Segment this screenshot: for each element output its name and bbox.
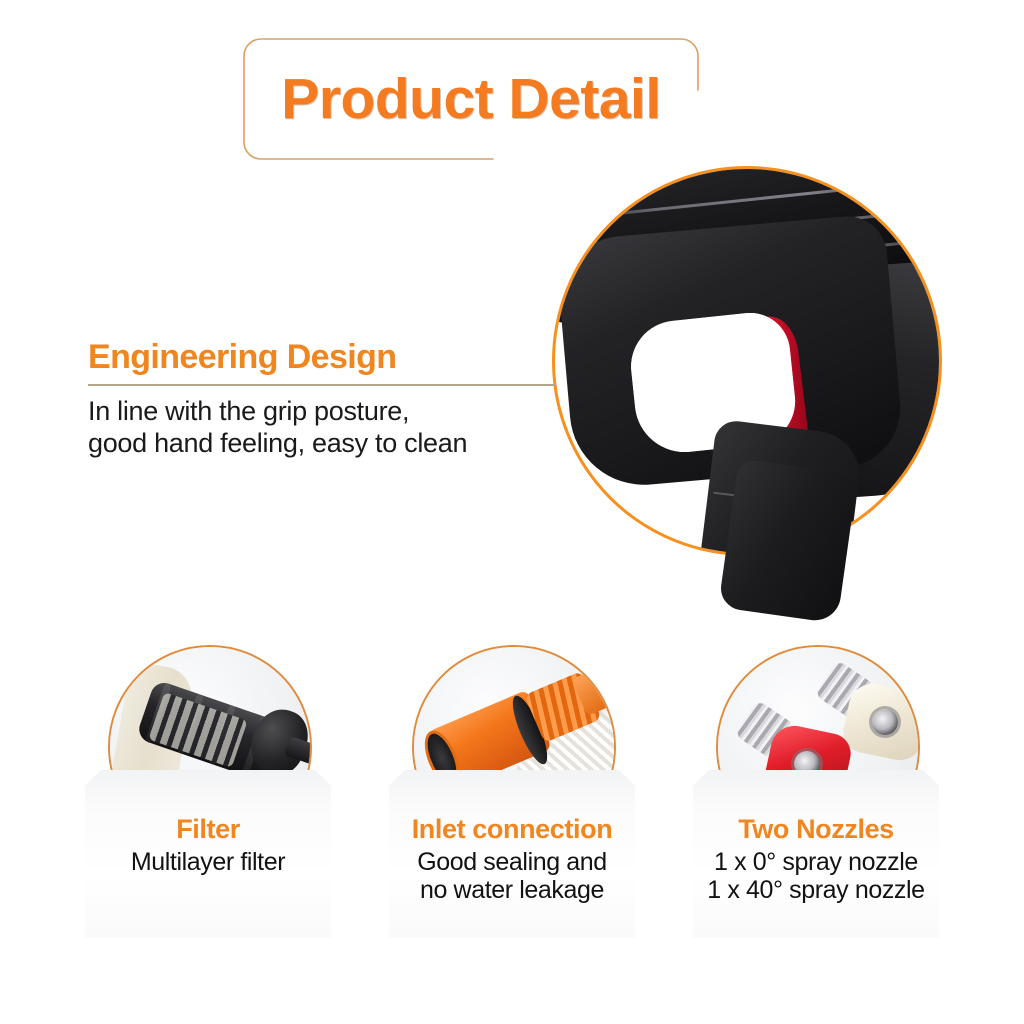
engineering-design-heading: Engineering Design <box>88 340 558 376</box>
inlet-desc-line-2: no water leakage <box>389 876 635 905</box>
gun-grip-overflow <box>718 458 858 623</box>
inlet-title: Inlet connection <box>389 815 635 845</box>
nozzles-title: Two Nozzles <box>693 815 939 845</box>
engineering-design-description: In line with the grip posture, good hand… <box>88 396 558 460</box>
filter-labels: Filter Multilayer filter <box>85 815 331 876</box>
nozzles-description: 1 x 0° spray nozzle 1 x 40° spray nozzle <box>693 848 939 905</box>
filter-description: Multilayer filter <box>85 848 331 877</box>
feature-card-row: Filter Multilayer filter Inlet connectio… <box>85 645 939 945</box>
page-title: Product Detail <box>243 66 699 132</box>
nozzles-labels: Two Nozzles 1 x 0° spray nozzle 1 x 40° … <box>693 815 939 905</box>
nozzles-desc-line-1: 1 x 0° spray nozzle <box>693 848 939 877</box>
nozzles-desc-line-2: 1 x 40° spray nozzle <box>693 876 939 905</box>
filter-desc-line-1: Multilayer filter <box>85 848 331 877</box>
feature-card-inlet-connection: Inlet connection Good sealing and no wat… <box>389 645 635 945</box>
inlet-labels: Inlet connection Good sealing and no wat… <box>389 815 635 905</box>
feature-card-filter: Filter Multilayer filter <box>85 645 331 945</box>
inlet-description: Good sealing and no water leakage <box>389 848 635 905</box>
description-line-1: In line with the grip posture, <box>88 396 558 428</box>
filter-title: Filter <box>85 815 331 845</box>
heading-divider <box>88 384 556 386</box>
inlet-desc-line-1: Good sealing and <box>389 848 635 877</box>
engineering-design-photo <box>552 166 942 556</box>
description-line-2: good hand feeling, easy to clean <box>88 428 558 460</box>
feature-card-two-nozzles: Two Nozzles 1 x 0° spray nozzle 1 x 40° … <box>693 645 939 945</box>
page-title-frame: Product Detail <box>243 38 699 160</box>
engineering-design-block: Engineering Design In line with the grip… <box>88 340 558 459</box>
nozzle-white-orifice <box>872 709 898 735</box>
